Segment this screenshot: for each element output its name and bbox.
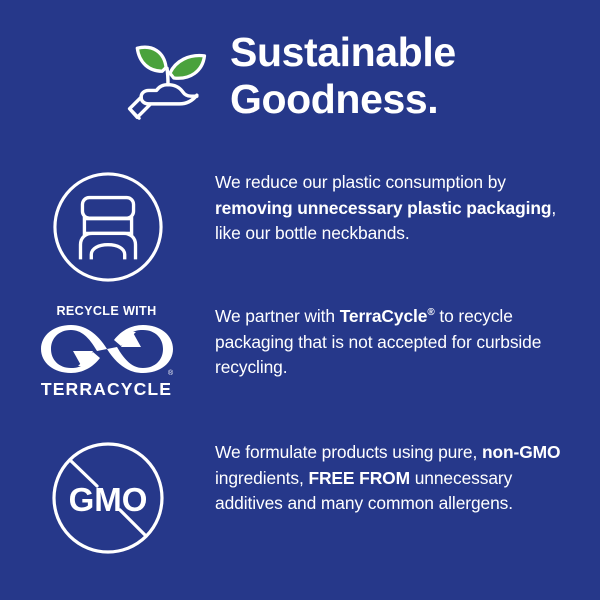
hand-holding-plant-icon <box>120 29 216 125</box>
infinity-recycle-arrows-icon: ® <box>37 321 177 377</box>
terracycle-wordmark: TERRACYCLE <box>41 379 172 400</box>
feature-icon-cell: RECYCLE WITH ® TERRACYCLE <box>0 304 215 400</box>
registered-mark: ® <box>427 307 434 318</box>
feature-row-terracycle-partnership: RECYCLE WITH ® TERRACYCLE We partner wit… <box>0 304 600 424</box>
feature-text-cell: We reduce our plastic consumption by rem… <box>215 170 600 247</box>
text-segment: We partner with <box>215 306 340 326</box>
feature-description: We reduce our plastic consumption by rem… <box>215 170 584 247</box>
feature-description: We formulate products using pure, non-GM… <box>215 440 584 517</box>
feature-icon-cell <box>0 170 215 284</box>
feature-row-non-gmo: GMO We formulate products using pure, no… <box>0 440 600 572</box>
feature-icon-cell: GMO <box>0 440 215 556</box>
gmo-label: GMO <box>68 481 147 518</box>
registered-mark: ® <box>168 369 174 377</box>
feature-text-cell: We formulate products using pure, non-GM… <box>215 440 600 517</box>
text-segment: We reduce our plastic consumption by <box>215 172 506 192</box>
feature-text-cell: We partner with TerraCycle® to recycle p… <box>215 304 600 381</box>
text-segment-bold: non-GMO <box>482 442 561 462</box>
feature-row-plastic-reduction: We reduce our plastic consumption by rem… <box>0 170 600 290</box>
text-segment-bold: removing unnecessary plastic packaging <box>215 198 551 218</box>
text-segment: We formulate products using pure, <box>215 442 482 462</box>
page-header: Sustainable Goodness. <box>0 0 600 152</box>
text-segment-bold: TerraCycle <box>340 306 428 326</box>
feature-description: We partner with TerraCycle® to recycle p… <box>215 304 584 381</box>
terracycle-logo: RECYCLE WITH ® TERRACYCLE <box>35 304 179 400</box>
no-gmo-icon: GMO <box>51 440 165 556</box>
text-segment-bold: FREE FROM <box>308 468 410 488</box>
page-title: Sustainable Goodness. <box>230 29 456 123</box>
bottle-neckband-icon <box>52 170 164 284</box>
text-segment: ingredients, <box>215 468 308 488</box>
terracycle-top-label: RECYCLE WITH <box>56 304 156 318</box>
